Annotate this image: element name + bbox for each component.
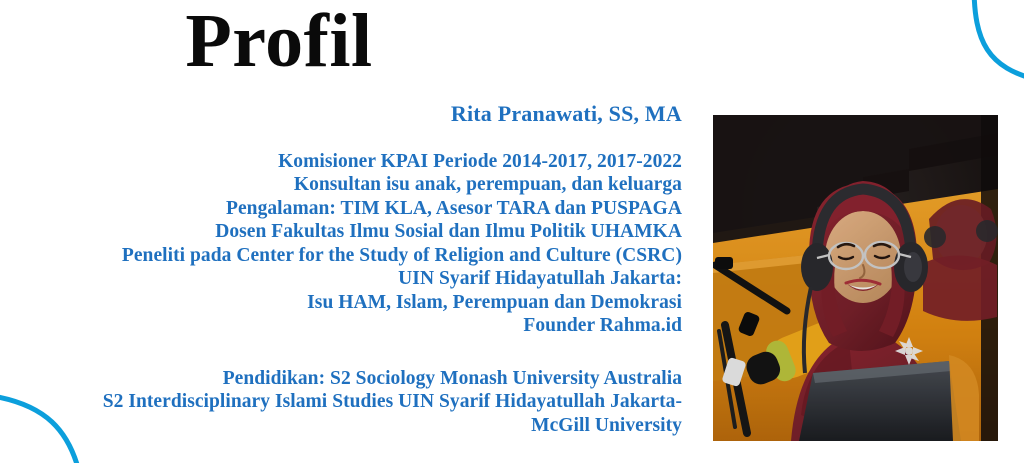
list-item: S2 Interdisciplinary Islami Studies UIN …: [18, 390, 682, 414]
list-item: Pengalaman: TIM KLA, Asesor TARA dan PUS…: [18, 197, 682, 221]
page-title: Profil: [0, 2, 1024, 81]
profile-slide: Profil Rita Pranawati, SS, MA Komisioner…: [0, 0, 1024, 463]
roles-list: Komisioner KPAI Periode 2014-2017, 2017-…: [18, 150, 682, 338]
list-item: Founder Rahma.id: [18, 314, 682, 338]
list-item: Isu HAM, Islam, Perempuan dan Demokrasi: [18, 291, 682, 315]
list-item: Konsultan isu anak, perempuan, dan kelua…: [18, 173, 682, 197]
education-list: Pendidikan: S2 Sociology Monash Universi…: [18, 367, 682, 438]
list-item: Dosen Fakultas Ilmu Sosial dan Ilmu Poli…: [18, 220, 682, 244]
list-item: McGill University: [18, 414, 682, 438]
section-spacer: [18, 338, 682, 367]
list-item: Pendidikan: S2 Sociology Monash Universi…: [18, 367, 682, 391]
profile-text-column: Rita Pranawati, SS, MA Komisioner KPAI P…: [18, 100, 682, 437]
profile-photo: [713, 115, 998, 441]
list-item: Peneliti pada Center for the Study of Re…: [18, 244, 682, 268]
list-item: Komisioner KPAI Periode 2014-2017, 2017-…: [18, 150, 682, 174]
person-name: Rita Pranawati, SS, MA: [18, 100, 682, 128]
list-item: UIN Syarif Hidayatullah Jakarta:: [18, 267, 682, 291]
